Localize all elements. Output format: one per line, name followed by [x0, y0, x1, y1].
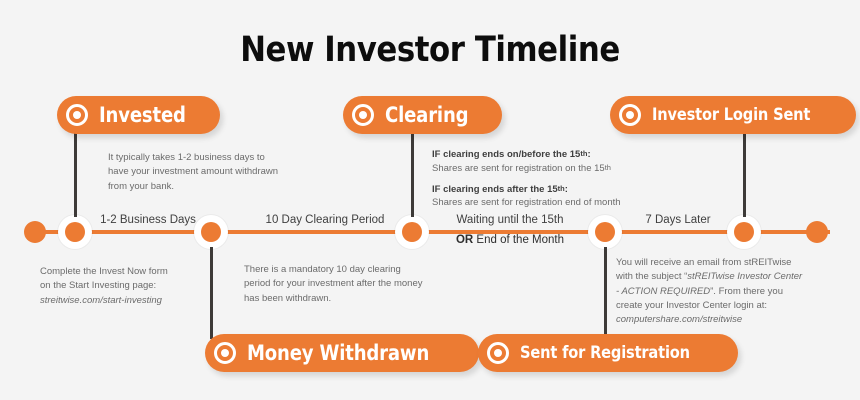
bullseye-icon	[352, 104, 374, 126]
milestone-badge-invested[interactable]: Invested	[57, 96, 220, 134]
stem-sent-for-registration	[604, 247, 607, 339]
milestone-badge-money-withdrawn[interactable]: Money Withdrawn	[205, 334, 479, 372]
timeline-end-dot	[806, 221, 828, 243]
note-investor-login: You will receive an email from stREITwis…	[616, 256, 806, 327]
note-clearing: IF clearing ends on/before the 15th: Sha…	[432, 148, 672, 217]
note-invest-now: Complete the Invest Now form on the Star…	[40, 265, 220, 308]
clearing-condition-2: IF clearing ends after the 15th: Shares …	[432, 183, 672, 211]
bullseye-icon	[487, 342, 509, 364]
stem-investor-login-sent	[743, 129, 746, 217]
milestone-label: Investor Login Sent	[652, 107, 810, 124]
note-money-withdrawn: There is a mandatory 10 day clearing per…	[244, 263, 424, 306]
milestone-label: Clearing	[385, 105, 468, 126]
bullseye-icon	[619, 104, 641, 126]
milestone-label: Invested	[99, 105, 186, 126]
interval-label-3-below: OR End of the Month	[425, 233, 595, 249]
stem-invested	[74, 129, 77, 217]
clearing-condition-1-sub: Shares are sent for registration on the …	[432, 162, 672, 176]
stem-clearing	[411, 129, 414, 217]
bullseye-icon	[66, 104, 88, 126]
investor-timeline-infographic: New Investor Timeline Invested Clearing …	[0, 0, 860, 400]
interval-label-4: 7 Days Later	[608, 213, 748, 229]
clearing-condition-1: IF clearing ends on/before the 15th: Sha…	[432, 148, 672, 176]
milestone-badge-investor-login-sent[interactable]: Investor Login Sent	[610, 96, 856, 134]
interval-label-3-above: Waiting until the 15th	[425, 213, 595, 229]
milestone-label: Sent for Registration	[520, 345, 690, 362]
clearing-condition-2-head: IF clearing ends after the 15th:	[432, 183, 672, 197]
timeline-start-dot	[24, 221, 46, 243]
page-title: New Investor Timeline	[52, 30, 809, 70]
bullseye-icon	[214, 342, 236, 364]
clearing-condition-1-head: IF clearing ends on/before the 15th:	[432, 148, 672, 162]
note-invest-now-line1: Complete the Invest Now form	[40, 265, 220, 279]
note-invested: It typically takes 1-2 business days to …	[108, 151, 288, 194]
milestone-label: Money Withdrawn	[247, 343, 429, 364]
clearing-condition-2-sub: Shares are sent for registration end of …	[432, 196, 672, 210]
note-invest-now-url: streitwise.com/start-investing	[40, 294, 220, 308]
milestone-badge-sent-for-registration[interactable]: Sent for Registration	[478, 334, 738, 372]
note-investor-login-url: computershare.com/streitwise	[616, 313, 806, 327]
note-invest-now-line2: on the Start Investing page:	[40, 279, 220, 293]
milestone-badge-clearing[interactable]: Clearing	[343, 96, 502, 134]
interval-label-1: 1-2 Business Days	[78, 213, 218, 229]
interval-label-2: 10 Day Clearing Period	[240, 213, 410, 229]
